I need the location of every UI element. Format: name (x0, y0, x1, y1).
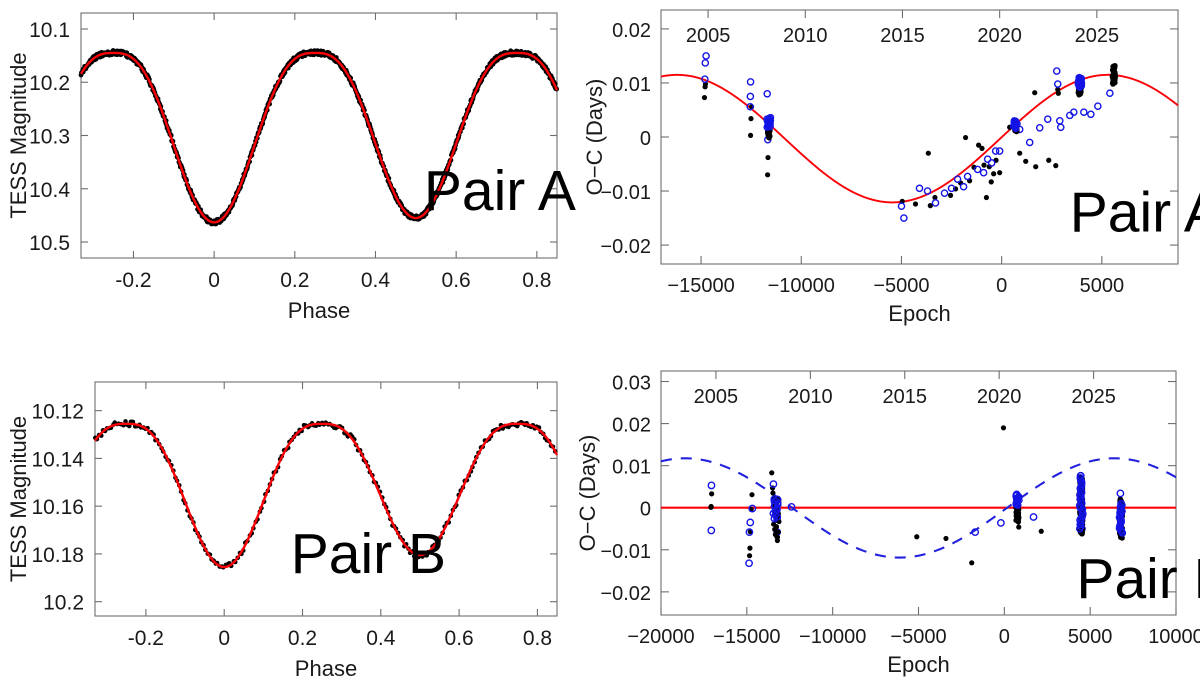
y-tick-label: 10.18 (31, 544, 84, 567)
data-point-secondary (1057, 118, 1063, 124)
panel-pair-b-lightcurve-canvas: 10.1210.1410.1610.1810.2-0.200.20.40.60.… (0, 340, 600, 681)
data-point-primary (1017, 151, 1022, 156)
data-point-primary (1053, 163, 1058, 168)
x-tick-label: 0.2 (288, 627, 317, 650)
year-tick-label: 2025 (1075, 25, 1120, 47)
x-tick-label: −10000 (768, 275, 835, 297)
data-point-secondary (1054, 68, 1060, 74)
year-tick-label: 2015 (883, 386, 928, 408)
x-axis-label: Phase (295, 656, 357, 681)
data-point-primary (979, 146, 984, 151)
panel-pair-a-oc-canvas: 0.020.010−0.01−0.02−15000−10000−50000500… (620, 0, 1200, 340)
year-tick-label: 2005 (686, 25, 731, 47)
figure-root: 10.110.210.310.410.5-0.200.20.40.60.8Pha… (0, 0, 1200, 681)
data-point-primary (1016, 524, 1021, 529)
panel-pair-b-lightcurve: 10.1210.1410.1610.1810.2-0.200.20.40.60.… (0, 340, 600, 681)
x-tick-label: 0 (218, 627, 230, 650)
y-tick-label: −0.01 (600, 541, 651, 563)
panel-pair-b-oc: 0.030.020.010−0.01−0.02−20000−15000−1000… (620, 340, 1200, 681)
data-point-secondary (916, 185, 922, 191)
year-tick-label: 2020 (977, 25, 1022, 47)
x-tick-label: -0.2 (128, 627, 164, 650)
y-tick-label: 0 (640, 499, 651, 521)
x-tick-label: 0.4 (366, 627, 396, 650)
data-point-primary (969, 560, 974, 565)
data-point-primary (913, 201, 918, 206)
data-point-primary (747, 553, 752, 558)
data-point-secondary (954, 176, 960, 182)
y-axis-label: TESS Magnitude (6, 52, 31, 218)
data-point-primary (1056, 91, 1061, 96)
data-point-primary (963, 135, 968, 140)
data-point-secondary (747, 519, 753, 525)
data-point-secondary (708, 527, 714, 533)
data-point-cluster (771, 522, 776, 527)
data-point-secondary (1088, 111, 1094, 117)
y-tick-label: 10.2 (29, 72, 70, 95)
data-point-secondary (1055, 81, 1061, 87)
data-point-primary (749, 492, 754, 497)
data-point-primary (1039, 529, 1044, 534)
data-point-secondary (989, 160, 995, 166)
data-points-cluster (764, 63, 1118, 141)
panel-pair-a-lightcurve-canvas: 10.110.210.310.410.5-0.200.20.40.60.8Pha… (0, 0, 600, 340)
data-point-primary (948, 193, 953, 198)
y-axis-label: TESS Magnitude (6, 416, 31, 582)
panel-label-pair-a-oc: Pair A (1070, 181, 1200, 245)
data-point-primary (748, 116, 753, 121)
x-tick-label: -0.2 (115, 269, 151, 292)
data-point-secondary (746, 560, 752, 566)
data-point-primary (770, 490, 775, 495)
data-point-secondary (1107, 90, 1113, 96)
x-tick-label: −10000 (799, 626, 866, 648)
data-point-primary (1033, 164, 1038, 169)
data-point-secondary (1027, 139, 1033, 145)
y-tick-label: 0.03 (612, 373, 651, 395)
x-tick-label: 0.8 (523, 627, 552, 650)
data-point-primary (991, 171, 996, 176)
data-point-secondary (964, 173, 970, 179)
panel-label-pair-b: Pair B (291, 522, 446, 586)
data-point-primary (702, 84, 707, 89)
x-tick-label: −15000 (713, 626, 780, 648)
x-tick-label: −15000 (667, 275, 734, 297)
x-tick-label: 0.8 (522, 269, 551, 292)
data-point-secondary (898, 203, 904, 209)
data-point-secondary (708, 482, 714, 488)
data-point-secondary (932, 200, 938, 206)
panel-pair-a-oc: 0.020.010−0.01−0.02−15000−10000−50000500… (620, 0, 1200, 340)
y-tick-label: 10.4 (29, 179, 70, 202)
data-point-secondary (747, 93, 753, 99)
y-tick-label: 10.16 (31, 496, 84, 519)
data-point-primary (1046, 158, 1051, 163)
x-tick-label: 0.6 (445, 627, 474, 650)
data-point-secondary (1037, 125, 1043, 131)
data-point-primary (984, 195, 989, 200)
y-tick-label: 0.01 (612, 457, 651, 479)
data-point-primary (765, 155, 770, 160)
year-tick-label: 2015 (880, 25, 925, 47)
data-point-cluster (1112, 63, 1117, 68)
year-tick-label: 2025 (1071, 386, 1116, 408)
data-point-secondary (901, 215, 907, 221)
y-tick-label: 0.01 (612, 74, 651, 96)
data-point-secondary (703, 53, 709, 59)
x-tick-label: −5000 (873, 275, 929, 297)
y-tick-label: −0.02 (600, 583, 651, 605)
panel-label-pair-b-oc: Pair B (1076, 547, 1200, 611)
data-points-black (708, 425, 1124, 565)
data-point-secondary (1081, 109, 1087, 115)
x-tick-label: −5000 (890, 626, 946, 648)
data-point-primary (914, 534, 919, 539)
x-tick-label: 10000 (1148, 626, 1200, 648)
data-points-black (702, 67, 1117, 208)
data-point-secondary (1045, 116, 1051, 122)
year-tick-label: 2005 (694, 386, 739, 408)
y-tick-label: 10.12 (31, 401, 84, 424)
data-point-primary (989, 179, 994, 184)
data-point-secondary (764, 91, 770, 97)
data-point-primary (748, 133, 753, 138)
y-tick-label: 0 (640, 128, 651, 150)
y-tick-label: 10.2 (43, 592, 84, 615)
panel-pair-b-oc-canvas: 0.030.020.010−0.01−0.02−20000−15000−1000… (620, 340, 1200, 681)
data-point-secondary (747, 79, 753, 85)
x-tick-label: 0 (996, 275, 1007, 297)
data-point-secondary (1117, 490, 1123, 496)
panel-pair-a-lightcurve: 10.110.210.310.410.5-0.200.20.40.60.8Pha… (0, 0, 600, 340)
data-point-primary (943, 536, 948, 541)
data-point-secondary (702, 60, 708, 66)
data-point-secondary (997, 148, 1003, 154)
data-point-secondary (941, 190, 947, 196)
y-tick-label: 0.02 (612, 415, 651, 437)
data-point-secondary (998, 520, 1004, 526)
data-point-primary (997, 170, 1002, 175)
data-point-secondary (981, 170, 987, 176)
y-tick-label: 10.1 (29, 19, 70, 42)
data-point-secondary (1058, 124, 1064, 130)
data-point-primary (708, 505, 713, 510)
data-point-primary (1023, 159, 1028, 164)
data-point-primary (926, 151, 931, 156)
data-point-primary (1032, 90, 1037, 95)
y-tick-label: 0.02 (612, 20, 651, 42)
data-point-primary (702, 95, 707, 100)
x-tick-label: 0.6 (442, 269, 471, 292)
data-point-secondary (1030, 514, 1036, 520)
y-tick-label: −0.02 (600, 236, 651, 258)
x-tick-label: 0.2 (280, 269, 309, 292)
data-point-secondary (960, 184, 966, 190)
x-tick-label: −20000 (627, 626, 694, 648)
data-point-primary (1001, 425, 1006, 430)
year-tick-label: 2010 (788, 386, 833, 408)
x-tick-label: 0.4 (361, 269, 391, 292)
data-point-secondary (1095, 103, 1101, 109)
y-tick-label: 10.5 (29, 232, 70, 255)
year-tick-label: 2020 (977, 386, 1022, 408)
y-axis-label: O−C (Days) (582, 79, 607, 196)
x-tick-label: 0 (999, 626, 1010, 648)
y-tick-label: 10.14 (31, 448, 84, 471)
panel-label-pair-a: Pair A (424, 159, 576, 223)
x-axis-label: Epoch (887, 652, 949, 677)
data-points-blue-open (708, 473, 1124, 567)
data-point-primary (769, 470, 774, 475)
y-axis-label: O−C (Days) (575, 435, 600, 552)
x-tick-label: 0 (208, 269, 220, 292)
data-points-blue-open (702, 53, 1113, 221)
x-tick-label: 5000 (1068, 626, 1113, 648)
x-axis-label: Phase (288, 298, 350, 323)
data-point-primary (765, 172, 770, 177)
data-point-primary (981, 163, 986, 168)
y-tick-label: 10.3 (29, 126, 70, 149)
data-point-primary (747, 546, 752, 551)
data-point-primary (709, 491, 714, 496)
year-tick-label: 2010 (783, 25, 828, 47)
y-tick-label: −0.01 (600, 182, 651, 204)
x-tick-label: 5000 (1080, 275, 1125, 297)
x-axis-label: Epoch (888, 301, 950, 326)
